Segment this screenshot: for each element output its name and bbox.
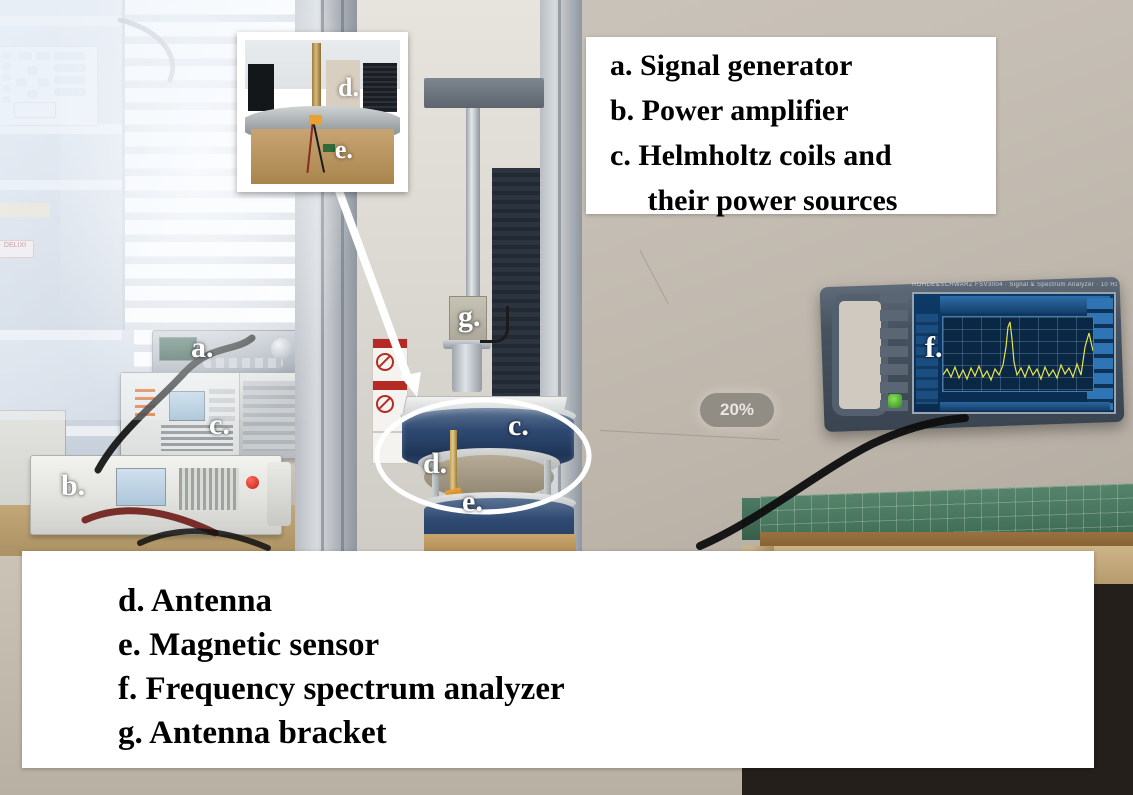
callout-a: a.	[191, 333, 214, 363]
figure-canvas: DELIXI	[0, 0, 1133, 795]
spectrum-trace-grid	[942, 316, 1094, 392]
inset-image-content: d. e.	[245, 40, 400, 184]
signal-generator-device	[152, 330, 302, 374]
zoom-percentage-value: 20%	[720, 400, 754, 420]
legend-item: d. Antenna	[118, 579, 1094, 623]
legend-item: a. Signal generator	[610, 43, 996, 88]
legend-item: e. Magnetic sensor	[118, 623, 1094, 667]
legend-item: b. Power amplifier	[610, 88, 996, 133]
callout-e: e.	[462, 487, 483, 517]
callout-b: b.	[61, 471, 85, 501]
legend-item: c. Helmholtz coils and	[610, 133, 996, 178]
equipment-rack-upper: DELIXI	[0, 0, 125, 354]
legend-top-right: a. Signal generator b. Power amplifier c…	[586, 37, 996, 214]
callout-g: g.	[458, 302, 481, 332]
callout-c-coil: c.	[508, 411, 529, 441]
legend-item: their power sources	[610, 178, 996, 223]
callout-c-instrument: c.	[209, 410, 230, 440]
machine-screw-rod	[466, 108, 480, 308]
inset-callout-d: d.	[338, 73, 359, 103]
spectrum-trace	[943, 317, 1093, 391]
legend-item: g. Antenna bracket	[118, 711, 1094, 755]
spectrum-analyzer-power-led	[888, 394, 902, 408]
legend-item: f. Frequency spectrum analyzer	[118, 667, 1094, 711]
rack-brand-label: DELIXI	[0, 240, 34, 258]
inset-callout-e: e.	[335, 135, 353, 165]
antenna-bracket-grip	[452, 344, 482, 392]
callout-f: f.	[925, 333, 943, 363]
callout-d: d.	[423, 449, 447, 479]
machine-crossbeam	[424, 78, 544, 108]
legend-bottom-list: d. Antenna e. Magnetic sensor f. Frequen…	[22, 551, 1094, 755]
legend-top-right-list: a. Signal generator b. Power amplifier c…	[586, 37, 996, 223]
legend-bottom: d. Antenna e. Magnetic sensor f. Frequen…	[22, 551, 1094, 768]
sensor-cable	[480, 306, 509, 343]
zoom-percentage-badge[interactable]: 20%	[700, 393, 774, 427]
inset-closeup-photo: d. e.	[237, 32, 408, 192]
